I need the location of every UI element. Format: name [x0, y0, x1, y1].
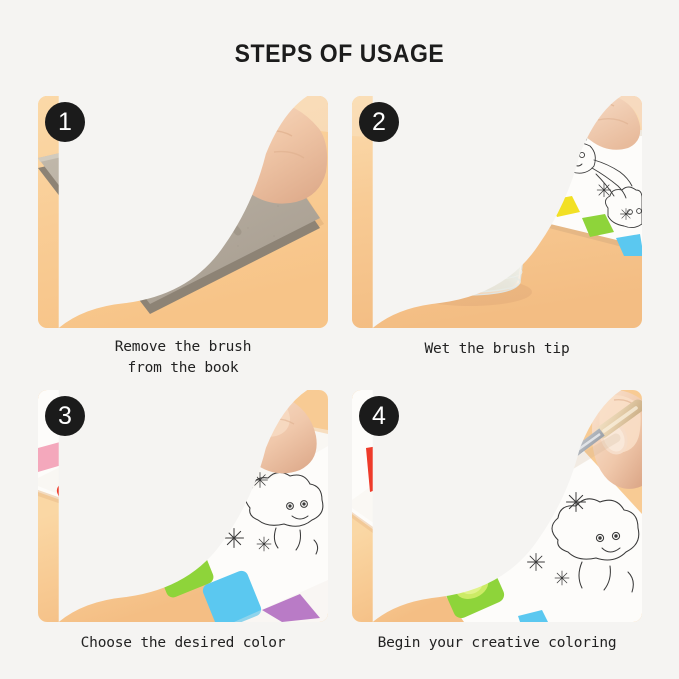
page-title: STEPS OF USAGE: [27, 40, 652, 69]
caption-line: from the book: [38, 358, 328, 379]
step-badge-3: 3: [45, 396, 85, 436]
usage-steps-infographic: STEPS OF USAGE: [0, 0, 679, 679]
step-caption-2: Wet the brush tip: [352, 339, 642, 360]
step-caption-1: Remove the brush from the book: [38, 337, 328, 378]
caption-line: Remove the brush: [38, 337, 328, 358]
caption-line: Choose the desired color: [38, 633, 328, 654]
step-photo-1: 1: [38, 96, 328, 328]
step-caption-3: Choose the desired color: [38, 633, 328, 654]
step-card-1: 1 Remove the brush from the book: [38, 96, 328, 378]
step-photo-2: 2: [352, 96, 642, 328]
step-card-2: 2 Wet the brush tip: [352, 96, 642, 378]
steps-grid: 1 Remove the brush from the book: [38, 96, 642, 654]
caption-line: Wet the brush tip: [352, 339, 642, 360]
step-badge-2: 2: [359, 102, 399, 142]
caption-line: Begin your creative coloring: [352, 633, 642, 654]
step-card-4: 4 Begin your creative coloring: [352, 390, 642, 654]
step-badge-4: 4: [359, 396, 399, 436]
step-photo-4: 4: [352, 390, 642, 622]
step-badge-1: 1: [45, 102, 85, 142]
step-card-3: 3 Choose the desired color: [38, 390, 328, 654]
step-photo-3: 3: [38, 390, 328, 622]
step-caption-4: Begin your creative coloring: [352, 633, 642, 654]
